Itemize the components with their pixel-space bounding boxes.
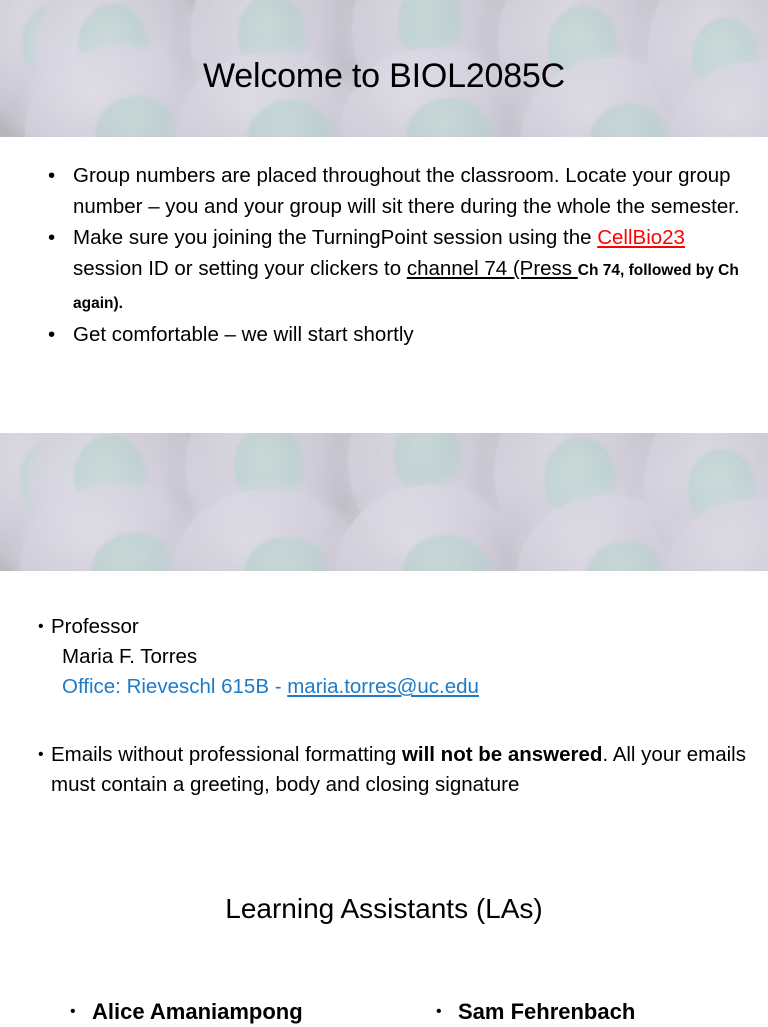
professor-bullet: • Professor: [38, 612, 750, 642]
slide1-bullet-3: • Get comfortable – we will start shortl…: [40, 319, 740, 350]
slide1-bullet-2-mid: session ID or setting your clickers to: [73, 257, 407, 280]
bullet-marker-icon: •: [48, 160, 55, 191]
slide1-title: Welcome to BIOL2085C: [0, 57, 768, 96]
la-name: Alice Amaniampong: [92, 999, 303, 1024]
email-policy-emphasis: will not be answered: [402, 743, 603, 766]
la-column-right: • Sam Fehrenbach: [384, 997, 768, 1027]
cell-microscopy-background-2: [0, 433, 768, 571]
slide1-title-band: Welcome to BIOL2085C: [0, 0, 768, 137]
learning-assistants-columns: • Alice Amaniampong • Sam Fehrenbach: [0, 997, 768, 1027]
email-policy-bullet: • Emails without professional formatting…: [38, 740, 750, 800]
slide1-bullet-2-lead: Make sure you joining the TurningPoint s…: [73, 226, 597, 249]
office-location: Office: Rieveschl 615B -: [62, 675, 287, 698]
bullet-marker-icon: •: [48, 222, 55, 253]
slide-deck-page: Welcome to BIOL2085C • Group numbers are…: [0, 0, 768, 1024]
clicker-channel-instruction: channel 74 (Press: [407, 257, 578, 280]
turningpoint-session-id[interactable]: CellBio23: [597, 226, 685, 249]
bullet-marker-icon: •: [38, 612, 44, 642]
bullet-marker-icon: •: [38, 740, 44, 770]
learning-assistants-heading: Learning Assistants (LAs): [0, 893, 768, 925]
slide1-content: • Group numbers are placed throughout th…: [40, 160, 740, 350]
slide2-title-band: Cell Biology - BIOL2085C: [0, 433, 768, 571]
slide1-bullet-1: • Group numbers are placed throughout th…: [40, 160, 740, 222]
slide1-bullet-3-text: Get comfortable – we will start shortly: [73, 323, 414, 346]
slide1-bullet-2: • Make sure you joining the TurningPoint…: [40, 222, 740, 319]
professor-email-link[interactable]: maria.torres@uc.edu: [287, 675, 479, 698]
slide1-bullet-1-text: Group numbers are placed throughout the …: [73, 164, 740, 218]
list-item: • Alice Amaniampong: [68, 997, 384, 1027]
email-policy-lead: Emails without professional formatting: [51, 743, 402, 766]
content-spacer: [38, 702, 750, 740]
professor-name: Maria F. Torres: [38, 642, 750, 672]
bullet-marker-icon: •: [48, 319, 55, 350]
list-item: • Sam Fehrenbach: [434, 997, 768, 1027]
slide2-content: • Professor Maria F. Torres Office: Riev…: [38, 612, 750, 800]
la-name: Sam Fehrenbach: [458, 999, 635, 1024]
professor-label: Professor: [51, 615, 139, 638]
professor-contact-line: Office: Rieveschl 615B - maria.torres@uc…: [38, 672, 750, 702]
la-column-left: • Alice Amaniampong: [0, 997, 384, 1027]
bullet-marker-icon: •: [70, 997, 76, 1027]
bullet-marker-icon: •: [436, 997, 442, 1027]
